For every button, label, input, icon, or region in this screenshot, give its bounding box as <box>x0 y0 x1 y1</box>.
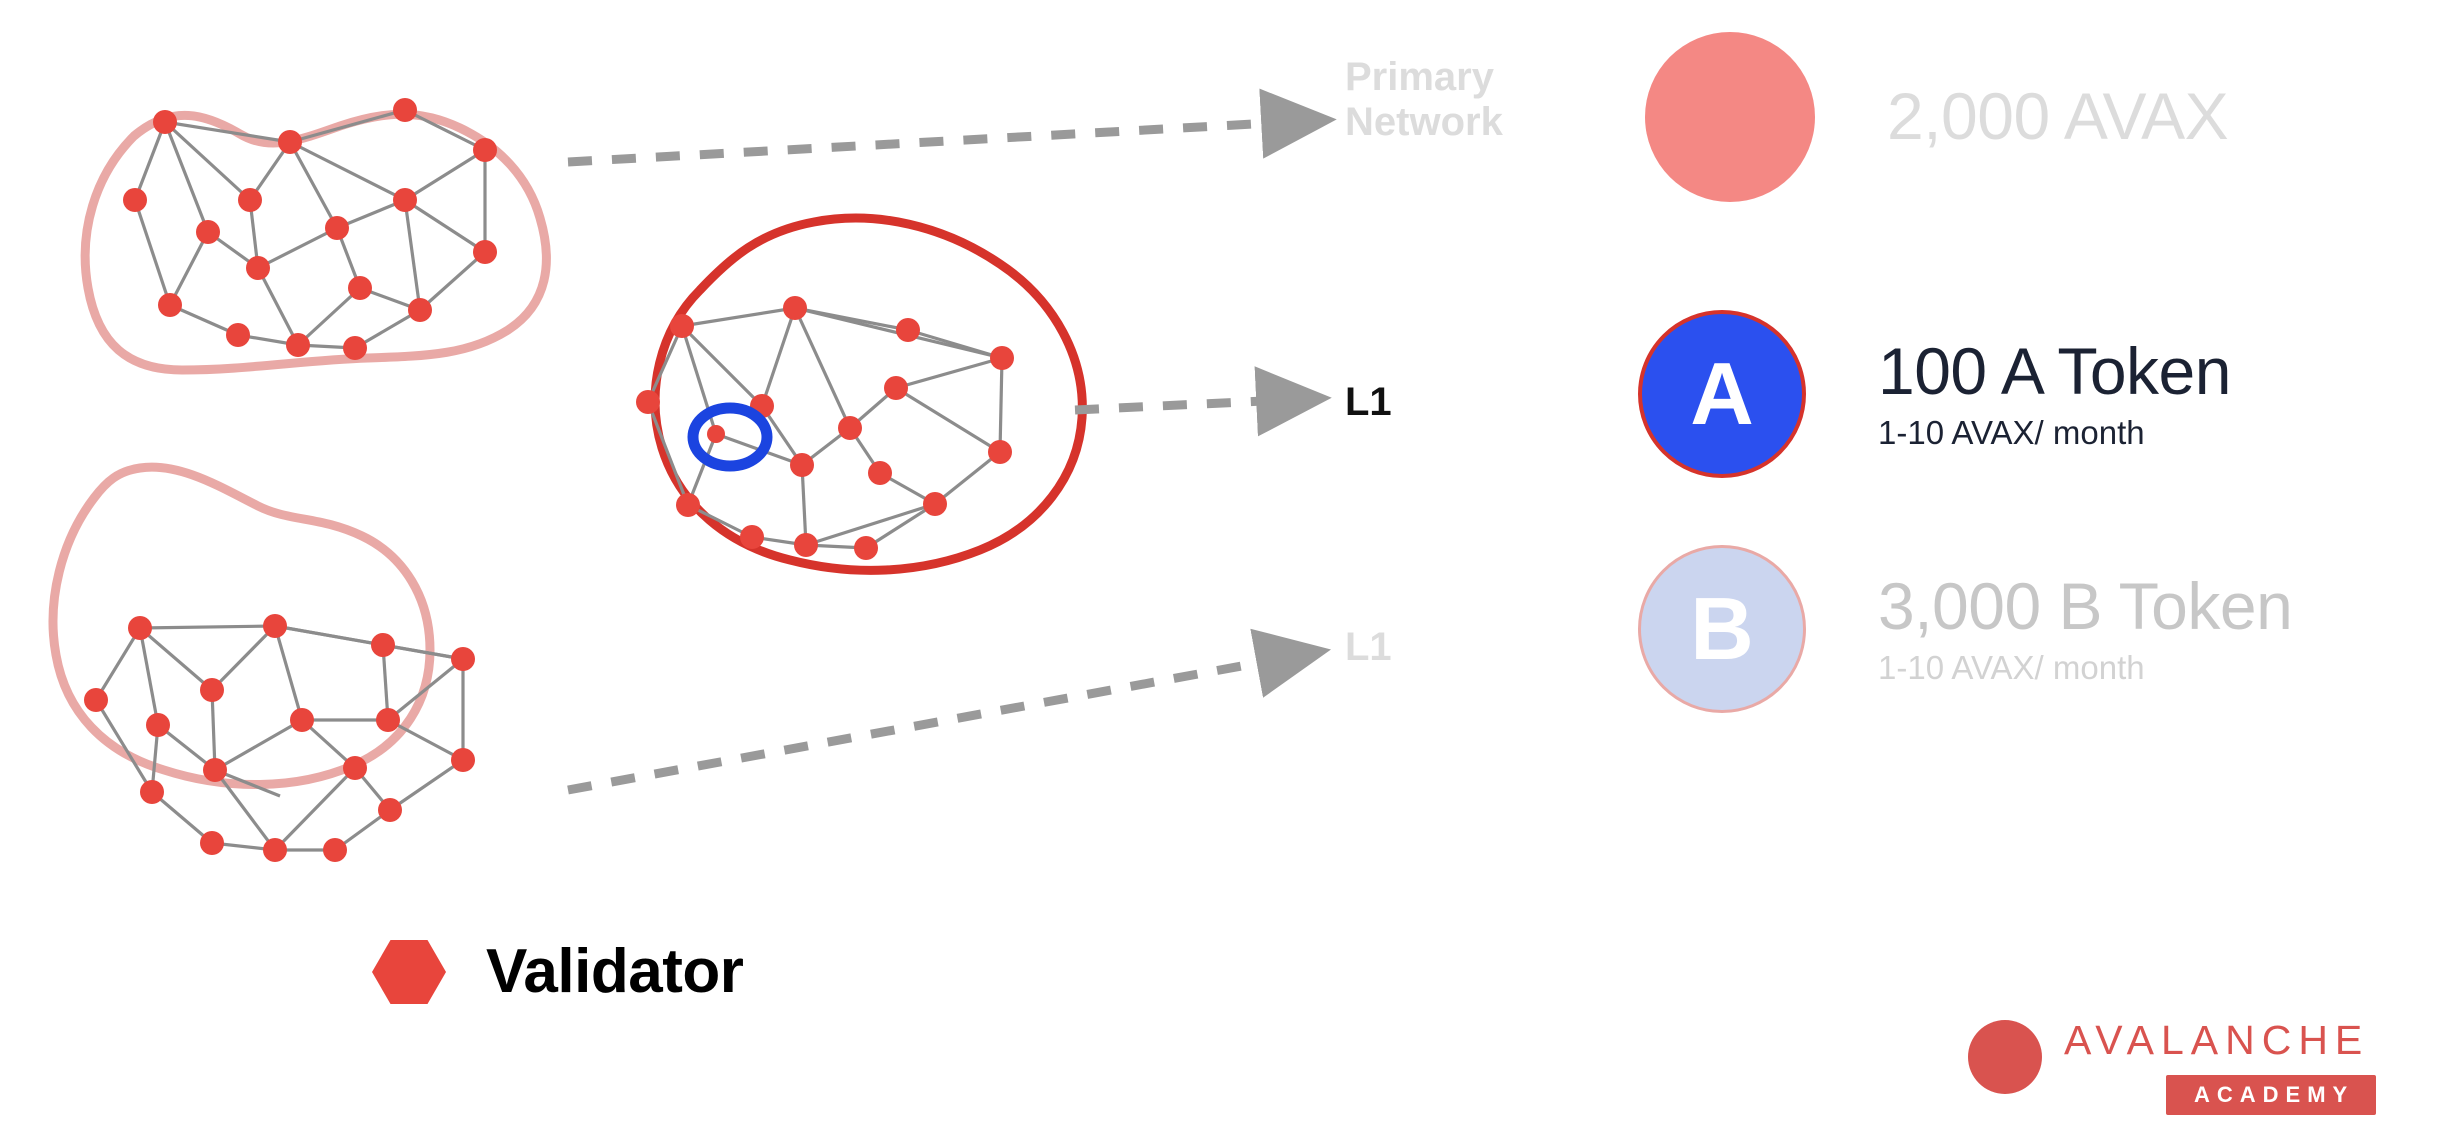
stake-row-l1-b[interactable]: B 3,000 B Token 1-10 AVAX/ month <box>1638 545 2292 713</box>
legend: Validator <box>372 940 743 1004</box>
validator-hexagon-icon <box>372 940 446 1004</box>
network-blob-l1-b <box>53 467 475 862</box>
stake-row-l1-a-text: 100 A Token 1-10 AVAX/ month <box>1878 337 2231 451</box>
network-edges <box>648 308 1002 548</box>
label-l1-a: L1 <box>1345 380 1392 425</box>
network-blob-l1-a <box>636 218 1082 570</box>
stake-amount-l1-b: 3,000 B Token <box>1878 572 2292 641</box>
arrow-to-l1-a <box>1075 400 1285 410</box>
stake-amount-primary: 2,000 AVAX <box>1887 82 2228 151</box>
stake-row-primary-text: 2,000 AVAX <box>1887 82 2228 151</box>
selected-validator-ring[interactable] <box>693 408 767 466</box>
arrow-to-primary-network <box>568 122 1290 162</box>
network-outline <box>655 218 1082 570</box>
b-token-badge: B <box>1638 545 1806 713</box>
stake-row-l1-a[interactable]: A 100 A Token 1-10 AVAX/ month <box>1638 310 2231 478</box>
b-badge-letter: B <box>1690 585 1754 673</box>
avalanche-mark-icon <box>1968 1020 2042 1094</box>
brand-text: AVALANCHE ACADEMY <box>2064 1020 2376 1115</box>
avax-token-badge <box>1645 32 1815 202</box>
stake-amount-l1-a: 100 A Token <box>1878 337 2231 406</box>
a-token-badge: A <box>1638 310 1806 478</box>
network-blob-primary <box>85 98 546 370</box>
brand-academy-badge: ACADEMY <box>2166 1075 2376 1115</box>
legend-label: Validator <box>486 941 743 1003</box>
diagram-canvas: Primary Network L1 L1 2,000 AVAX A 100 A… <box>0 0 2444 1148</box>
stake-row-primary-network[interactable]: 2,000 AVAX <box>1645 32 2228 202</box>
network-edges <box>96 626 463 850</box>
brand-wordmark: AVALANCHE <box>2064 1020 2369 1061</box>
label-l1-b: L1 <box>1345 625 1392 670</box>
avalanche-academy-logo: AVALANCHE ACADEMY <box>1968 1020 2376 1115</box>
network-edges <box>135 110 485 348</box>
label-primary-network: Primary Network <box>1345 55 1503 145</box>
arrow-to-l1-b <box>568 658 1285 790</box>
stake-row-l1-b-text: 3,000 B Token 1-10 AVAX/ month <box>1878 572 2292 686</box>
stake-fee-l1-a: 1-10 AVAX/ month <box>1878 416 2231 451</box>
a-badge-letter: A <box>1690 350 1754 438</box>
connector-arrows <box>568 122 1290 790</box>
stake-fee-l1-b: 1-10 AVAX/ month <box>1878 651 2292 686</box>
